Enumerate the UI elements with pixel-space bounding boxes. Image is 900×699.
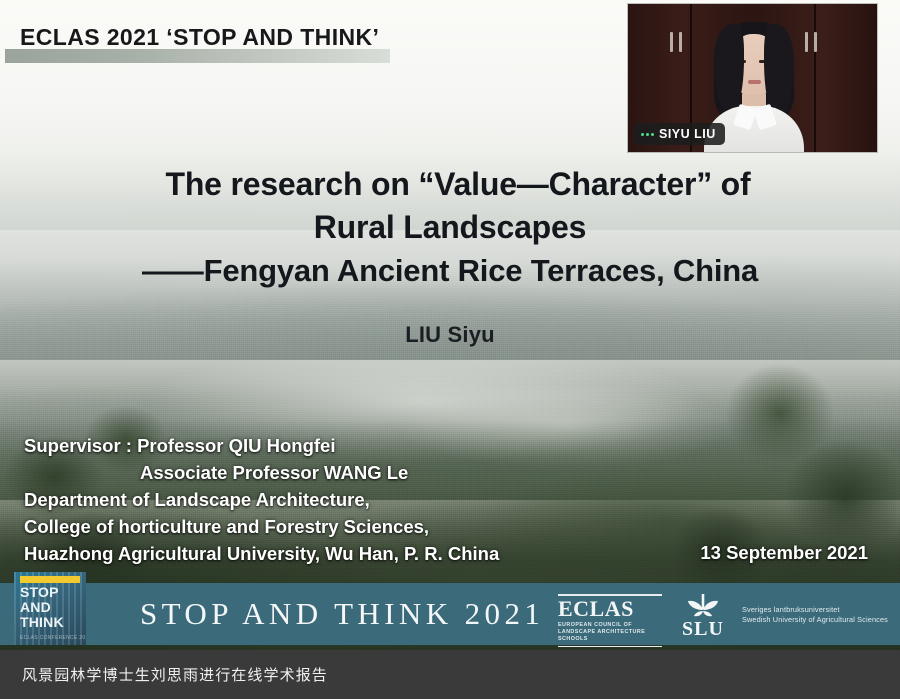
logo-subtitle: ECLAS CONFERENCE 2021 (20, 635, 86, 641)
slu-tagline: Sveriges lantbruksuniversitet Swedish Un… (742, 605, 888, 624)
cabinet-seam-right (814, 4, 816, 152)
slide-date: 13 September 2021 (700, 542, 868, 564)
eclas-subtitle-line-1: EUROPEAN COUNCIL OF (558, 622, 668, 629)
logo-yellow-bar (20, 576, 80, 583)
cabinet-handle-left-a (670, 32, 673, 52)
slide-header: ECLAS 2021 ‘STOP AND THINK’ (20, 20, 620, 54)
slide-title-line-3: ——Fengyan Ancient Rice Terraces, China (0, 249, 900, 292)
logo-text-line-1: STOP (20, 585, 64, 600)
slide-title: The research on “Value—Character” of Rur… (0, 163, 900, 292)
logo-text-line-3: THINK (20, 615, 64, 630)
eclas-subtitle-line-3: SCHOOLS (558, 636, 668, 643)
screenshot-root: ECLAS 2021 ‘STOP AND THINK’ The research… (0, 0, 900, 699)
slide-header-title: ECLAS 2021 ‘STOP AND THINK’ (20, 20, 620, 54)
cabinet-handle-left-b (679, 32, 682, 52)
microphone-activity-icon (641, 133, 654, 136)
eclas-wordmark: ECLAS (558, 598, 668, 620)
slide-title-line-2: Rural Landscapes (0, 206, 900, 249)
slu-tagline-line-2: Swedish University of Agricultural Scien… (742, 615, 888, 625)
logo-text-line-2: AND (20, 600, 64, 615)
stop-and-think-logo: STOP AND THINK ECLAS CONFERENCE 2021 (14, 572, 86, 645)
logo-text: STOP AND THINK (20, 585, 64, 630)
cabinet-handle-right-a (805, 32, 808, 52)
cabinet-handle-right-b (814, 32, 817, 52)
banner-title: STOP AND THINK 2021 (140, 583, 544, 645)
affiliation-supervisor: Supervisor : Professor QIU Hongfei (24, 432, 644, 459)
slide-author: LIU Siyu (0, 322, 900, 348)
caption-bar: 风景园林学博士生刘思雨进行在线学术报告 (0, 650, 900, 699)
slide-affiliation-block: Supervisor : Professor QIU Hongfei Assoc… (24, 432, 644, 567)
affiliation-co-supervisor: Associate Professor WANG Le (24, 459, 644, 486)
participant-video-tile[interactable]: SIYU LIU (628, 4, 877, 152)
eclas-logo: ECLAS EUROPEAN COUNCIL OF LANDSCAPE ARCH… (558, 592, 668, 649)
affiliation-university: Huazhong Agricultural University, Wu Han… (24, 540, 644, 567)
slide-title-line-1: The research on “Value—Character” of (0, 163, 900, 206)
slu-wordmark: SLU (672, 619, 734, 639)
eclas-subtitle: EUROPEAN COUNCIL OF LANDSCAPE ARCHITECTU… (558, 622, 668, 644)
eclas-subtitle-line-2: LANDSCAPE ARCHITECTURE (558, 629, 668, 636)
affiliation-college: College of horticulture and Forestry Sci… (24, 513, 644, 540)
affiliation-department: Department of Landscape Architecture, (24, 486, 644, 513)
eclas-rule-bottom (558, 646, 662, 648)
slu-tagline-line-1: Sveriges lantbruksuniversitet (742, 605, 888, 615)
slu-logo: SLU (672, 593, 734, 639)
participant-hair-front-left (714, 24, 744, 112)
participant-name: SIYU LIU (659, 127, 716, 141)
caption-text: 风景园林学博士生刘思雨进行在线学术报告 (0, 664, 328, 685)
participant-nameplate: SIYU LIU (634, 123, 725, 145)
participant-mouth (748, 80, 761, 84)
conference-banner: STOP AND THINK ECLAS CONFERENCE 2021 STO… (0, 583, 900, 645)
